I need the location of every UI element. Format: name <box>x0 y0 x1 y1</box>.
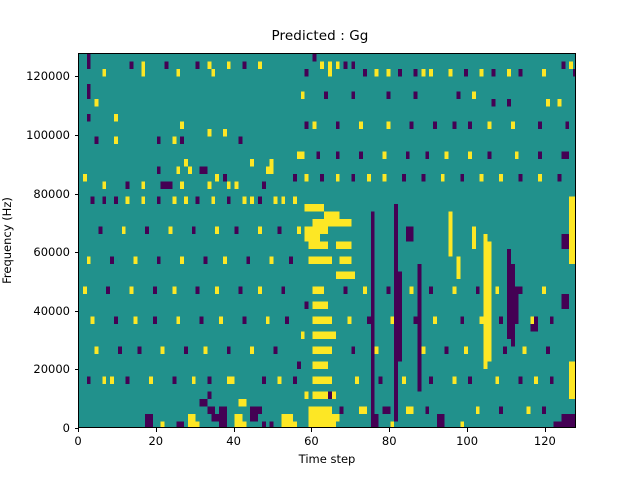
y-tick-label: 0 <box>63 421 70 435</box>
y-tick-mark <box>75 252 79 253</box>
x-tick-label: 60 <box>304 434 319 448</box>
matplotlib-figure: Predicted : Gg 020406080100120 020000400… <box>0 0 640 480</box>
y-tick-label: 60000 <box>33 245 70 259</box>
heatmap-canvas <box>79 54 576 428</box>
y-tick-label: 80000 <box>33 187 70 201</box>
x-tick-mark <box>78 428 79 432</box>
x-axis-label: Time step <box>78 452 576 466</box>
x-tick-mark <box>467 428 468 432</box>
y-tick-mark <box>75 369 79 370</box>
heatmap-plot-area <box>78 53 576 428</box>
x-tick-mark <box>389 428 390 432</box>
x-tick-mark <box>545 428 546 432</box>
y-axis-label: Frequency (Hz) <box>0 53 16 428</box>
x-tick-label: 80 <box>382 434 397 448</box>
y-tick-label: 20000 <box>33 362 70 376</box>
x-tick-label: 120 <box>534 434 556 448</box>
x-tick-mark <box>311 428 312 432</box>
y-tick-label: 120000 <box>26 69 70 83</box>
y-tick-label: 100000 <box>26 128 70 142</box>
x-tick-label: 100 <box>456 434 478 448</box>
x-tick-mark <box>234 428 235 432</box>
y-tick-mark <box>75 135 79 136</box>
x-tick-label: 0 <box>74 434 81 448</box>
y-tick-mark <box>75 76 79 77</box>
y-tick-label: 40000 <box>33 304 70 318</box>
y-tick-mark <box>75 428 79 429</box>
y-tick-mark <box>75 311 79 312</box>
x-tick-mark <box>156 428 157 432</box>
x-tick-label: 20 <box>148 434 163 448</box>
page-title: Predicted : Gg <box>0 28 640 44</box>
y-tick-mark <box>75 194 79 195</box>
x-tick-label: 40 <box>226 434 241 448</box>
